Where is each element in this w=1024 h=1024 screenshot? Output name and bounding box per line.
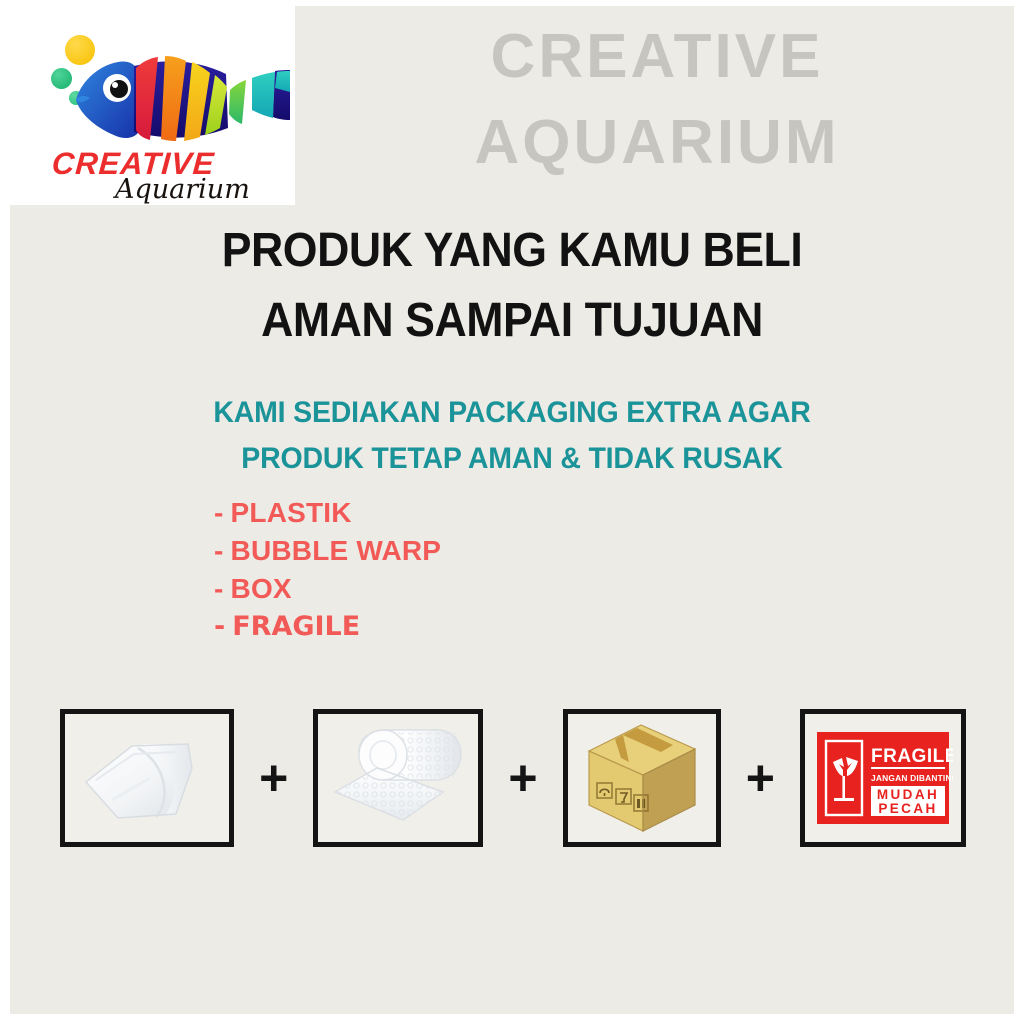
brand-watermark: CREATIVE AQUARIUM: [300, 14, 1014, 185]
headline-line-2: AMAN SAMPAI TUJUAN: [45, 286, 979, 356]
packaging-item-bubble-wrap: [313, 709, 483, 847]
subheading-line-1: KAMI SEDIAKAN PACKAGING EXTRA AGAR: [35, 390, 989, 436]
rainbow-fish-icon: [70, 44, 290, 154]
list-item-label: PLASTIK: [231, 497, 352, 528]
bullet-dash: -: [214, 494, 224, 532]
list-item: -FRAGILE: [214, 608, 714, 646]
fragile-title: FRAGILE: [871, 746, 953, 767]
fragile-line-1: MUDAH: [877, 787, 939, 802]
list-item-label: BOX: [231, 573, 292, 604]
plus-separator-2: +: [508, 753, 537, 803]
plus-separator-3: +: [746, 753, 775, 803]
logo-secondary-text: Aquarium: [115, 174, 250, 205]
watermark-line-2: AQUARIUM: [300, 100, 1014, 186]
bubble-medium-icon: [51, 68, 72, 89]
plus-separator-1: +: [259, 753, 288, 803]
fragile-sticker-icon: FRAGILE JANGAN DIBANTING MUDAH PECAH: [813, 726, 953, 830]
packaging-item-plastic-bag: [60, 709, 234, 847]
cardboard-box-icon: [577, 717, 707, 839]
list-item: -BOX: [214, 570, 714, 608]
bullet-dash: -: [214, 532, 224, 570]
fragile-line-2: PECAH: [878, 801, 937, 816]
watermark-line-1: CREATIVE: [300, 14, 1014, 100]
bullet-dash: -: [214, 608, 225, 646]
fragile-subtitle: JANGAN DIBANTING: [871, 773, 953, 783]
bubble-wrap-icon: [325, 718, 471, 838]
poster-canvas: CREATIVE AQUARIUM: [0, 0, 1024, 1024]
headline-line-1: PRODUK YANG KAMU BELI: [45, 216, 979, 286]
packaging-strip: +: [60, 707, 966, 849]
bullet-dash: -: [214, 570, 224, 608]
brand-logo-panel: CREATIVE Aquarium: [10, 6, 295, 205]
subheading-line-2: PRODUK TETAP AMAN & TIDAK RUSAK: [35, 436, 989, 482]
subheading: KAMI SEDIAKAN PACKAGING EXTRA AGAR PRODU…: [35, 390, 989, 481]
list-item: -PLASTIK: [214, 494, 714, 532]
list-item-label: FRAGILE: [232, 611, 360, 642]
packaging-item-fragile-sticker: FRAGILE JANGAN DIBANTING MUDAH PECAH: [800, 709, 966, 847]
packaging-item-cardboard-box: [563, 709, 721, 847]
plastic-bag-icon: [72, 718, 222, 838]
headline: PRODUK YANG KAMU BELI AMAN SAMPAI TUJUAN: [45, 216, 979, 355]
list-item: -BUBBLE WARP: [214, 532, 714, 570]
packaging-list: -PLASTIK -BUBBLE WARP -BOX -FRAGILE: [214, 494, 714, 646]
list-item-label: BUBBLE WARP: [231, 535, 442, 566]
